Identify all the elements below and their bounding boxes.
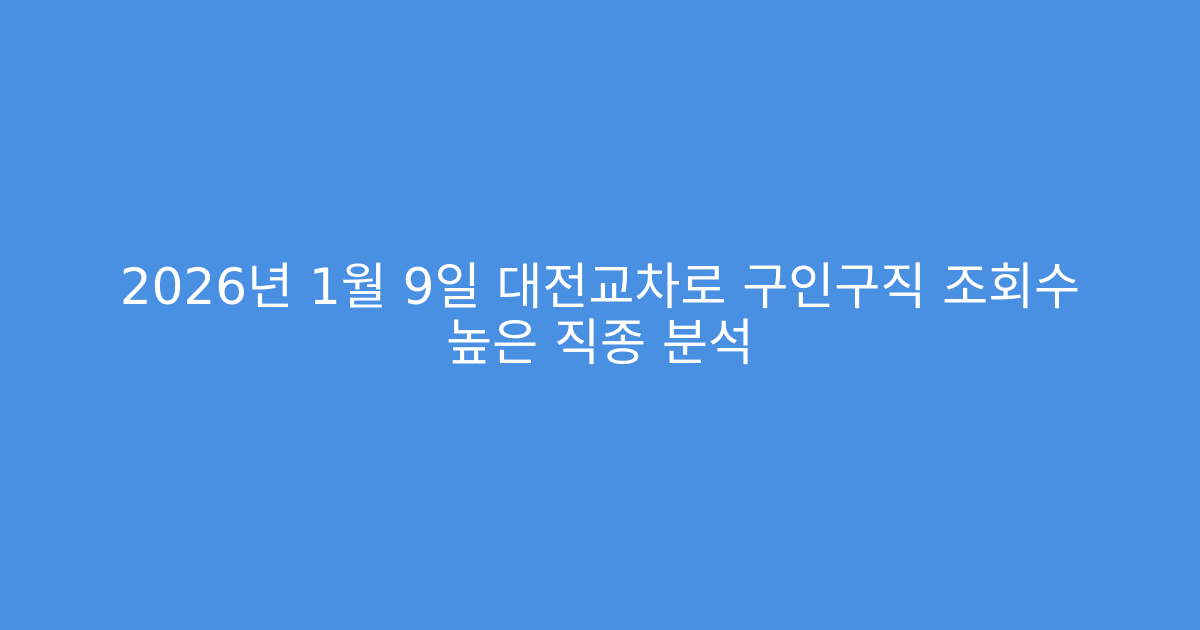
page-title: 2026년 1월 9일 대전교차로 구인구직 조회수 높은 직종 분석 bbox=[70, 259, 1130, 371]
banner-card: 2026년 1월 9일 대전교차로 구인구직 조회수 높은 직종 분석 bbox=[0, 0, 1200, 630]
banner-content: 2026년 1월 9일 대전교차로 구인구직 조회수 높은 직종 분석 bbox=[0, 259, 1200, 371]
